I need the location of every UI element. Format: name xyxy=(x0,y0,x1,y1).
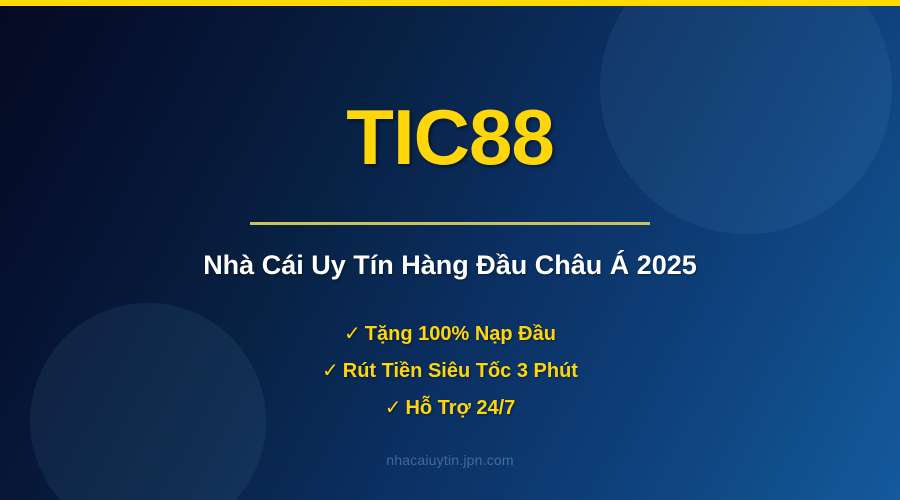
list-item: ✓Rút Tiền Siêu Tốc 3 Phút xyxy=(0,353,900,390)
title-divider xyxy=(250,222,650,225)
feature-label: Tặng 100% Nạp Đầu xyxy=(365,323,556,345)
feature-list: ✓Tặng 100% Nạp Đầu ✓Rút Tiền Siêu Tốc 3 … xyxy=(0,316,900,427)
banner-content: TIC88 Nhà Cái Uy Tín Hàng Đầu Châu Á 202… xyxy=(0,0,900,500)
list-item: ✓Tặng 100% Nạp Đầu xyxy=(0,316,900,353)
check-icon: ✓ xyxy=(385,390,402,427)
brand-title: TIC88 xyxy=(0,98,900,176)
site-watermark: nhacaiuytin.jpn.com xyxy=(0,452,900,468)
banner-subtitle: Nhà Cái Uy Tín Hàng Đầu Châu Á 2025 xyxy=(0,250,900,281)
top-accent-bar xyxy=(0,0,900,6)
check-icon: ✓ xyxy=(322,353,339,390)
check-icon: ✓ xyxy=(344,316,361,353)
feature-label: Hỗ Trợ 24/7 xyxy=(405,397,515,419)
list-item: ✓Hỗ Trợ 24/7 xyxy=(0,390,900,427)
feature-label: Rút Tiền Siêu Tốc 3 Phút xyxy=(343,360,578,382)
promo-banner: TIC88 Nhà Cái Uy Tín Hàng Đầu Châu Á 202… xyxy=(0,0,900,500)
